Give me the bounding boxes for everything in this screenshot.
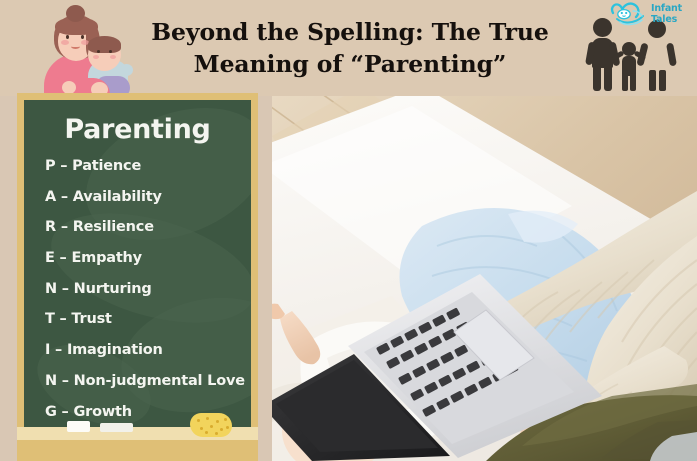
brand-name: Infant Tales bbox=[651, 4, 682, 25]
baby-eye-left bbox=[97, 50, 100, 53]
chalk-stick-icon bbox=[67, 421, 90, 432]
mother-cheek-left bbox=[61, 40, 69, 45]
mother-eye-right bbox=[81, 35, 84, 39]
mother-icon-leg-left bbox=[649, 70, 656, 91]
brand-name-line-1: Infant bbox=[651, 4, 682, 14]
board-title: Parenting bbox=[24, 114, 251, 145]
mother-smile bbox=[71, 44, 80, 49]
baby-hair bbox=[88, 36, 121, 53]
mother-icon-arm-right bbox=[666, 43, 677, 67]
mother-eye-left bbox=[66, 35, 69, 39]
photo-illustration bbox=[272, 96, 697, 461]
poster-canvas: Beyond the Spelling: The True Meaning of… bbox=[0, 0, 697, 461]
poster-header: Beyond the Spelling: The True Meaning of… bbox=[0, 0, 697, 96]
list-item: N – Non-judgmental Love bbox=[45, 374, 251, 389]
baby-cheek-right bbox=[110, 55, 116, 59]
child-leg-right bbox=[630, 73, 636, 91]
list-item: T – Trust bbox=[45, 312, 251, 327]
chalkboard-surface: Parenting P – Patience A – Availability … bbox=[24, 100, 251, 441]
list-item: I – Imagination bbox=[45, 343, 251, 358]
list-item: P – Patience bbox=[45, 159, 251, 174]
father-leg-left bbox=[593, 64, 601, 91]
brand-logo[interactable]: Infant Tales bbox=[609, 1, 693, 28]
list-item: N – Nurturing bbox=[45, 282, 251, 297]
infant-tales-logo-icon bbox=[609, 2, 649, 27]
list-item: E – Empathy bbox=[45, 251, 251, 266]
chalkboard-panel: Parenting P – Patience A – Availability … bbox=[17, 93, 258, 461]
list-item: A – Availability bbox=[45, 190, 251, 205]
mother-icon-arm-left bbox=[636, 42, 648, 66]
list-item: R – Resilience bbox=[45, 220, 251, 235]
page-title-line-2: Meaning of “Parenting” bbox=[194, 48, 507, 80]
child-leg-left bbox=[622, 73, 628, 91]
mother-icon-leg-right bbox=[659, 70, 666, 91]
page-title-line-1: Beyond the Spelling: The True bbox=[151, 16, 548, 48]
father-leg-right bbox=[604, 64, 612, 91]
chalk-stick-icon bbox=[100, 423, 133, 432]
baby-eye-right bbox=[109, 50, 112, 53]
page-title: Beyond the Spelling: The True Meaning of… bbox=[120, 6, 580, 90]
sponge-eraser-icon bbox=[190, 413, 232, 437]
brand-name-line-2: Tales bbox=[651, 15, 682, 25]
baby-cheek-left bbox=[93, 55, 99, 59]
acrostic-list: P – Patience A – Availability R – Resili… bbox=[24, 159, 251, 419]
mother-hair-bun bbox=[66, 5, 85, 22]
mother-with-laptop-photo bbox=[272, 96, 697, 461]
